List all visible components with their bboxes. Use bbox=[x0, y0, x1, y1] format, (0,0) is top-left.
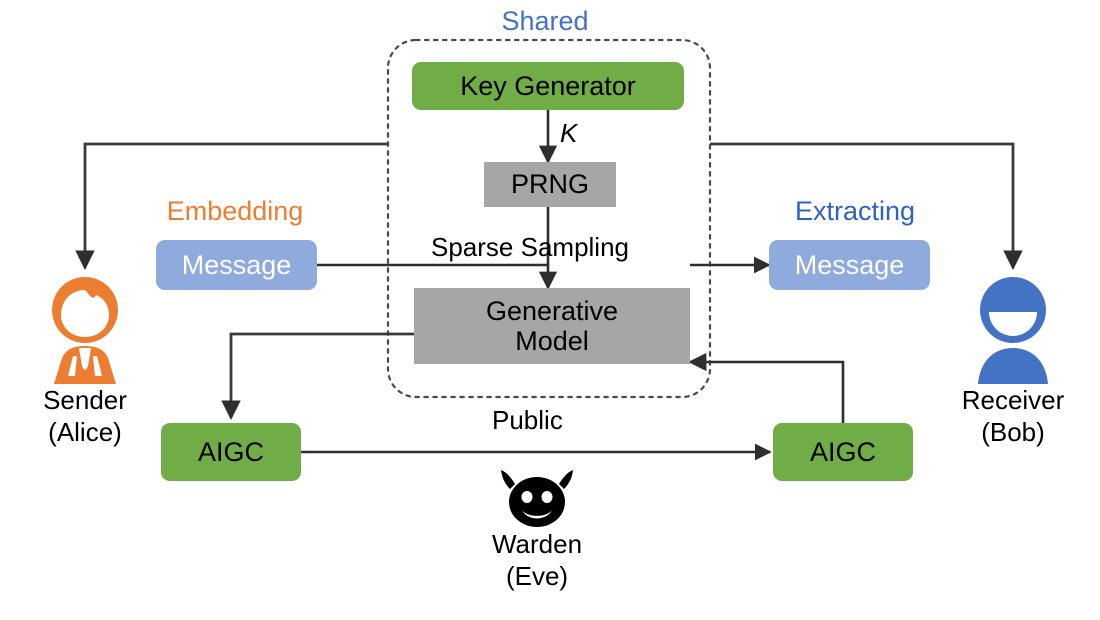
actor-receiver[interactable]: Receiver (Bob) bbox=[958, 276, 1068, 447]
sender-role-label: Sender bbox=[30, 386, 140, 416]
generative-model-line-2: Model bbox=[515, 326, 589, 356]
aigc-box-left[interactable]: AIGC bbox=[161, 423, 301, 481]
diagram-canvas: Shared Embedding Extracting Key Generato… bbox=[0, 0, 1100, 620]
prng-box[interactable]: PRNG bbox=[484, 162, 616, 207]
actor-warden[interactable]: Warden (Eve) bbox=[482, 466, 592, 591]
person-male-icon bbox=[958, 276, 1068, 384]
embedding-label: Embedding bbox=[145, 196, 325, 227]
public-channel-label: Public bbox=[492, 405, 563, 436]
person-female-icon bbox=[30, 276, 140, 384]
sender-name-label: (Alice) bbox=[30, 418, 140, 448]
edge-aigc-right-to-generative-model bbox=[690, 362, 843, 423]
extracting-label: Extracting bbox=[765, 196, 945, 227]
receiver-name-label: (Bob) bbox=[958, 418, 1068, 448]
warden-name-label: (Eve) bbox=[482, 562, 592, 592]
receiver-role-label: Receiver bbox=[958, 386, 1068, 416]
devil-face-icon bbox=[482, 466, 592, 528]
aigc-box-right[interactable]: AIGC bbox=[773, 423, 913, 481]
edge-generative-model-to-aigc-left bbox=[231, 334, 428, 418]
message-box-sender[interactable]: Message bbox=[156, 240, 317, 290]
key-generator-box[interactable]: Key Generator bbox=[412, 62, 684, 110]
message-box-receiver[interactable]: Message bbox=[769, 240, 930, 290]
generative-model-box[interactable]: Generative Model bbox=[414, 288, 690, 364]
actor-sender[interactable]: Sender (Alice) bbox=[30, 276, 140, 447]
sparse-sampling-label: Sparse Sampling bbox=[431, 232, 629, 263]
warden-role-label: Warden bbox=[482, 530, 592, 560]
generative-model-line-1: Generative bbox=[486, 296, 618, 326]
shared-region-label: Shared bbox=[455, 6, 635, 37]
key-symbol-label: K bbox=[560, 118, 577, 149]
